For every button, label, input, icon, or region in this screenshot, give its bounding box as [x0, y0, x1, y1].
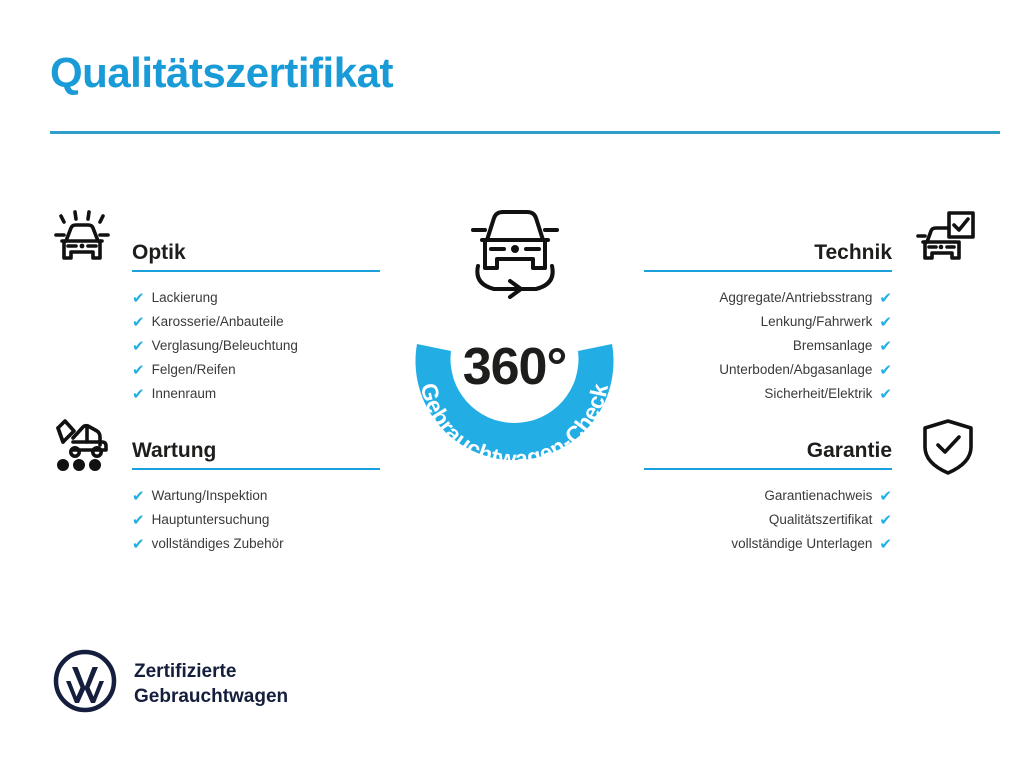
- check-icon: ✔: [132, 513, 145, 528]
- list-item: Bremsanlage ✔: [644, 334, 892, 358]
- section-wartung: Wartung ✔ Wartung/Inspektion ✔ Hauptunte…: [132, 438, 380, 556]
- check-icon: ✔: [879, 291, 892, 306]
- section-header: Garantie: [644, 438, 892, 472]
- section-underline: [132, 468, 380, 470]
- list-item-label: Unterboden/Abgasanlage: [719, 358, 872, 382]
- section-underline: [644, 468, 892, 470]
- checklist-technik: Aggregate/Antriebsstrang ✔ Lenkung/Fahrw…: [644, 286, 892, 406]
- list-item-label: Lackierung: [152, 286, 218, 310]
- checklist-wartung: ✔ Wartung/Inspektion ✔ Hauptuntersuchung…: [132, 484, 380, 556]
- list-item: ✔ Felgen/Reifen: [132, 358, 380, 382]
- checklist-optik: ✔ Lackierung ✔ Karosserie/Anbauteile ✔ V…: [132, 286, 380, 406]
- check-icon: ✔: [132, 489, 145, 504]
- list-item-label: vollständiges Zubehör: [152, 532, 284, 556]
- section-underline: [644, 270, 892, 272]
- section-header: Optik: [132, 240, 380, 274]
- section-technik: Technik Aggregate/Antriebsstrang ✔ Lenku…: [644, 240, 892, 406]
- check-icon: ✔: [132, 315, 145, 330]
- check-icon: ✔: [132, 339, 145, 354]
- list-item: ✔ vollständiges Zubehör: [132, 532, 380, 556]
- check-icon: ✔: [879, 537, 892, 552]
- service-pencil-car-icon: [46, 414, 118, 480]
- list-item: ✔ Karosserie/Anbauteile: [132, 310, 380, 334]
- list-item-label: Hauptuntersuchung: [152, 508, 270, 532]
- check-icon: ✔: [132, 363, 145, 378]
- check-icon: ✔: [132, 387, 145, 402]
- list-item-label: Sicherheit/Elektrik: [764, 382, 872, 406]
- list-item: ✔ Wartung/Inspektion: [132, 484, 380, 508]
- section-header: Technik: [644, 240, 892, 274]
- list-item: ✔ Lackierung: [132, 286, 380, 310]
- car-front-checkbox-icon: [908, 206, 980, 272]
- section-title: Technik: [644, 240, 892, 266]
- check-icon: ✔: [879, 339, 892, 354]
- check-icon: ✔: [879, 363, 892, 378]
- check-icon: ✔: [132, 537, 145, 552]
- section-optik: Optik ✔ Lackierung ✔ Karosserie/Anbautei…: [132, 240, 380, 406]
- list-item: ✔ Hauptuntersuchung: [132, 508, 380, 532]
- vw-lockup-line2: Gebrauchtwagen: [134, 686, 288, 707]
- list-item: Aggregate/Antriebsstrang ✔: [644, 286, 892, 310]
- list-item-label: Lenkung/Fahrwerk: [761, 310, 873, 334]
- shield-check-icon: [912, 414, 984, 480]
- section-header: Wartung: [132, 438, 380, 472]
- list-item-label: Innenraum: [152, 382, 217, 406]
- list-item: Unterboden/Abgasanlage ✔: [644, 358, 892, 382]
- check-icon: ✔: [879, 489, 892, 504]
- page-title: Qualitätszertifikat: [50, 50, 393, 96]
- vw-lockup-line1: Zertifizierte: [134, 661, 236, 682]
- check-icon: ✔: [132, 291, 145, 306]
- vw-lockup-text: Zertifizierte Gebrauchtwagen: [134, 659, 288, 709]
- section-title: Garantie: [644, 438, 892, 464]
- list-item: Qualitätszertifikat ✔: [644, 508, 892, 532]
- list-item-label: Wartung/Inspektion: [152, 484, 268, 508]
- section-title: Wartung: [132, 438, 380, 464]
- section-title: Optik: [132, 240, 380, 266]
- vw-certified-lockup: Zertifizierte Gebrauchtwagen: [52, 648, 288, 719]
- list-item-label: Verglasung/Beleuchtung: [152, 334, 298, 358]
- badge-number: 360°: [382, 337, 647, 397]
- check-icon: ✔: [879, 315, 892, 330]
- checklist-garantie: Garantienachweis ✔ Qualitätszertifikat ✔…: [644, 484, 892, 556]
- list-item: Garantienachweis ✔: [644, 484, 892, 508]
- section-underline: [132, 270, 380, 272]
- vw-logo: [52, 648, 118, 719]
- list-item: Lenkung/Fahrwerk ✔: [644, 310, 892, 334]
- car-front-shine-icon: [46, 206, 118, 272]
- list-item: ✔ Innenraum: [132, 382, 380, 406]
- list-item-label: Felgen/Reifen: [152, 358, 236, 382]
- list-item: Sicherheit/Elektrik ✔: [644, 382, 892, 406]
- list-item-label: Qualitätszertifikat: [769, 508, 873, 532]
- list-item-label: Aggregate/Antriebsstrang: [719, 286, 872, 310]
- list-item-label: Bremsanlage: [793, 334, 873, 358]
- check-icon: ✔: [879, 513, 892, 528]
- badge-360-gebrauchtwagen-check: Gebrauchtwagen-Check 360°: [382, 192, 647, 492]
- check-icon: ✔: [879, 387, 892, 402]
- list-item-label: Garantienachweis: [764, 484, 872, 508]
- list-item-label: Karosserie/Anbauteile: [152, 310, 284, 334]
- title-divider: [50, 131, 1000, 134]
- list-item-label: vollständige Unterlagen: [731, 532, 872, 556]
- list-item: vollständige Unterlagen ✔: [644, 532, 892, 556]
- list-item: ✔ Verglasung/Beleuchtung: [132, 334, 380, 358]
- section-garantie: Garantie Garantienachweis ✔ Qualitätszer…: [644, 438, 892, 556]
